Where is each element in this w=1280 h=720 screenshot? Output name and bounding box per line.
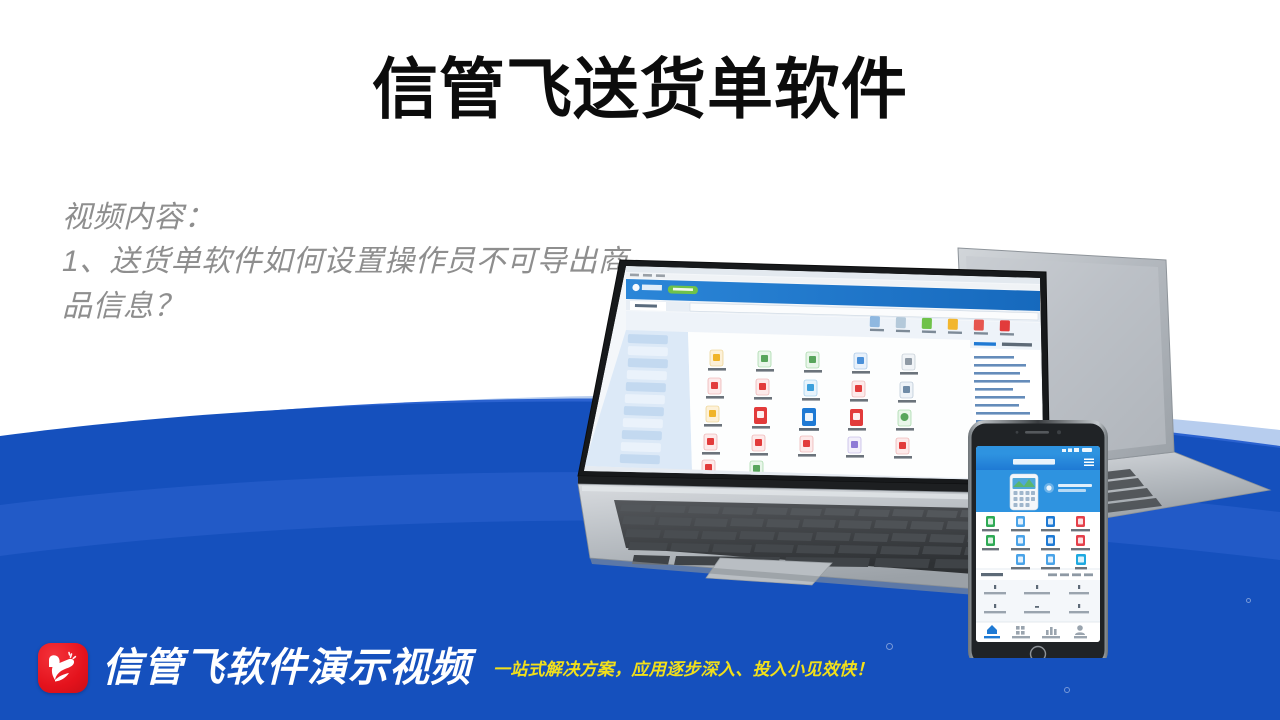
- hamburger-menu-icon[interactable]: [1084, 459, 1094, 467]
- slide-root: 信管飞送货单软件 视频内容： 1、送货单软件如何设置操作员不可导出商 品信息？: [0, 0, 1280, 720]
- page-title: 信管飞送货单软件: [0, 52, 1280, 128]
- brand-title: 信管飞软件演示视频: [102, 648, 471, 688]
- brand-bar: 信管飞软件演示视频 一站式解决方案，应用逐步深入、投入小见效快！: [0, 616, 1280, 720]
- brand-title-text: 信管飞软件演示视频: [102, 646, 471, 690]
- brand-tagline: 一站式解决方案，应用逐步深入、投入小见效快！: [493, 655, 874, 682]
- xinguanfei-bird-logo-icon: [38, 643, 88, 693]
- video-content-label: 视频内容：: [62, 196, 762, 240]
- device-mockup-group: [570, 238, 1280, 658]
- phone-screen-content: [976, 446, 1100, 642]
